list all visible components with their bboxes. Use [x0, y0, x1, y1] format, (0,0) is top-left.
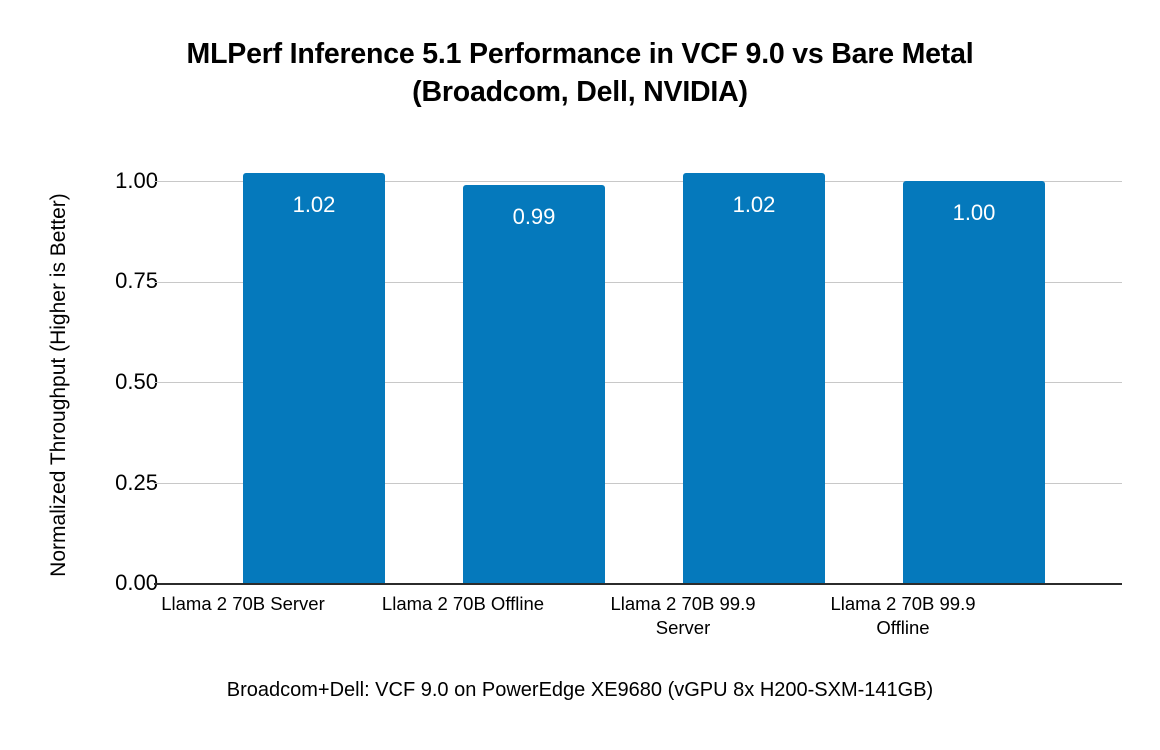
y-tick-mark-1	[154, 181, 172, 182]
y-tick-mark-5	[154, 583, 172, 585]
y-tick-label-2: 0.75	[38, 270, 158, 292]
x-tick-label-llama-2-70b-server: Llama 2 70B Server	[133, 592, 353, 616]
x-tick-label-llama-2-70b-offline: Llama 2 70B Offline	[353, 592, 573, 616]
x-tick-label-llama-2-70b-99.9-server: Llama 2 70B 99.9 Server	[573, 592, 793, 641]
y-tick-label-3: 0.50	[38, 371, 158, 393]
y-tick-label-4: 0.25	[38, 472, 158, 494]
chart-title: MLPerf Inference 5.1 Performance in VCF …	[60, 36, 1100, 112]
y-tick-mark-3	[154, 382, 172, 383]
chart-figure: MLPerf Inference 5.1 Performance in VCF …	[0, 0, 1160, 750]
x-tick-label-llama-2-70b-99.9-offline: Llama 2 70B 99.9 Offline	[793, 592, 1013, 641]
bar-llama-2-70b-99.9-server[interactable]: 1.02	[683, 173, 825, 583]
y-tick-label-5: 0.00	[38, 572, 158, 594]
bar-llama-2-70b-offline[interactable]: 0.99	[463, 185, 605, 583]
bar-value-label: 0.99	[463, 206, 605, 228]
plot-area: 1.02 0.99 1.02 1.00	[172, 181, 1122, 583]
y-tick-mark-2	[154, 282, 172, 283]
bar-value-label: 1.00	[903, 202, 1045, 224]
x-axis-line	[172, 583, 1122, 585]
footer-caption: Broadcom+Dell: VCF 9.0 on PowerEdge XE96…	[60, 679, 1100, 702]
bar-llama-2-70b-server[interactable]: 1.02	[243, 173, 385, 583]
y-tick-label-1: 1.00	[38, 170, 158, 192]
y-tick-mark-4	[154, 483, 172, 484]
bar-llama-2-70b-99.9-offline[interactable]: 1.00	[903, 181, 1045, 583]
bar-value-label: 1.02	[683, 194, 825, 216]
bar-value-label: 1.02	[243, 194, 385, 216]
